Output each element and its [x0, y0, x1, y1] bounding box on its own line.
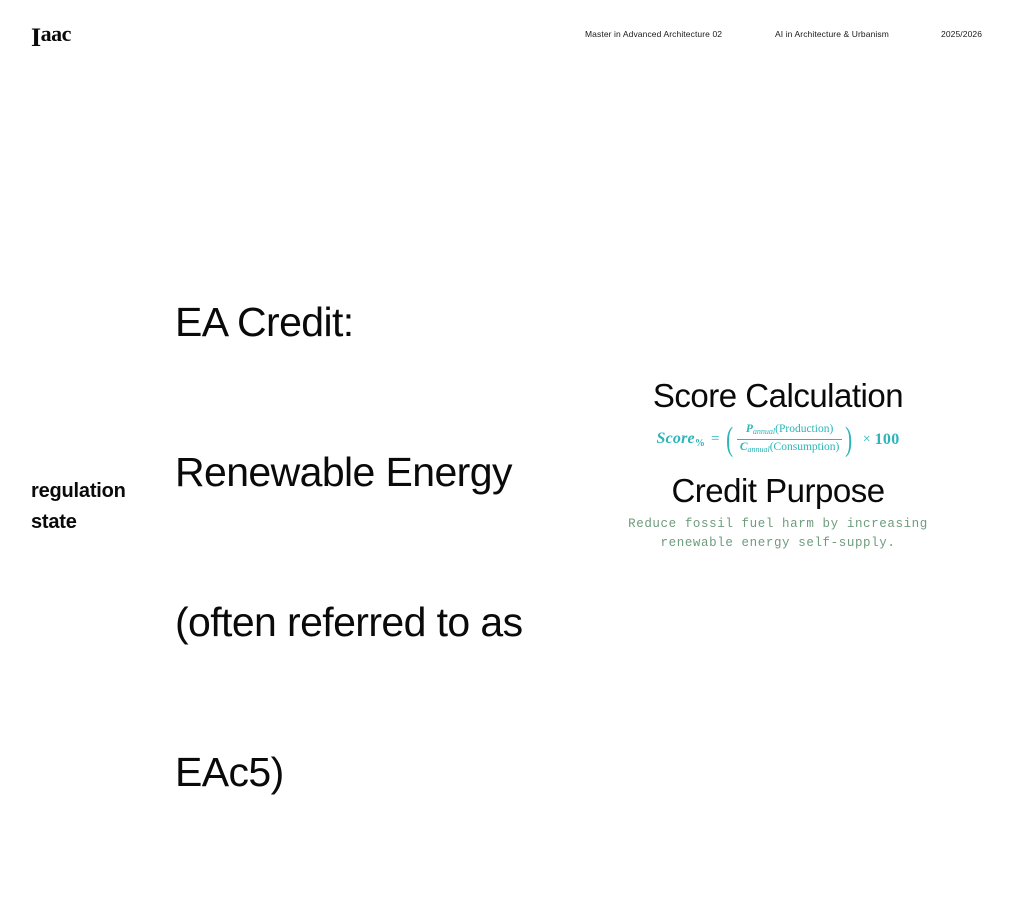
regulation-state-line-1: regulation [31, 476, 126, 507]
logo-lower-letters: aac [41, 21, 71, 46]
credit-purpose-heading: Credit Purpose [588, 471, 968, 511]
formula-equals: = [711, 432, 719, 447]
formula-denominator: Cannual(Consumption) [737, 440, 843, 457]
regulation-state-line-2: state [31, 507, 126, 538]
slide-canvas: Iaac Master in Advanced Architecture 02 … [0, 0, 1024, 576]
formula-lhs-subscript: % [695, 438, 705, 449]
page-title-line-3: (often referred to as [175, 597, 522, 647]
formula-numerator-term: (Production) [775, 423, 833, 435]
page-title: EA Credit: Renewable Energy (often refer… [175, 197, 522, 897]
page-title-line-2: Renewable Energy [175, 447, 522, 497]
formula-lhs-symbol: Score [656, 430, 694, 447]
formula-denominator-term: (Consumption) [770, 441, 840, 453]
header-academic-year: 2025/2026 [941, 28, 982, 40]
page-title-line-1: EA Credit: [175, 297, 522, 347]
credit-purpose-body: Reduce fossil fuel harm by increasing re… [588, 515, 968, 553]
score-calculation-heading: Score Calculation [588, 376, 968, 416]
right-panel: Score Calculation Score% = ( Pannual(Pro… [588, 376, 968, 553]
formula-numerator-symbol: P [746, 423, 753, 435]
header-program: Master in Advanced Architecture 02 [585, 28, 722, 40]
header-course: AI in Architecture & Urbanism [775, 28, 889, 40]
formula-lhs: Score% [656, 431, 705, 449]
formula-multiply-sign: × [863, 433, 871, 447]
header-meta: Master in Advanced Architecture 02 AI in… [585, 28, 985, 42]
regulation-state-label: regulation state [31, 476, 126, 538]
iaac-logo: Iaac [31, 22, 71, 52]
formula-numerator-subscript: annual [753, 427, 775, 436]
formula-factor: 100 [875, 432, 900, 448]
logo-cap-letter: I [31, 23, 41, 52]
formula-fraction: Pannual(Production) Cannual(Consumption) [737, 422, 843, 457]
formula-denominator-subscript: annual [747, 445, 769, 454]
score-formula: Score% = ( Pannual(Production) Cannual(C… [588, 422, 968, 457]
page-title-line-4: EAc5) [175, 747, 522, 797]
formula-numerator: Pannual(Production) [737, 422, 843, 440]
